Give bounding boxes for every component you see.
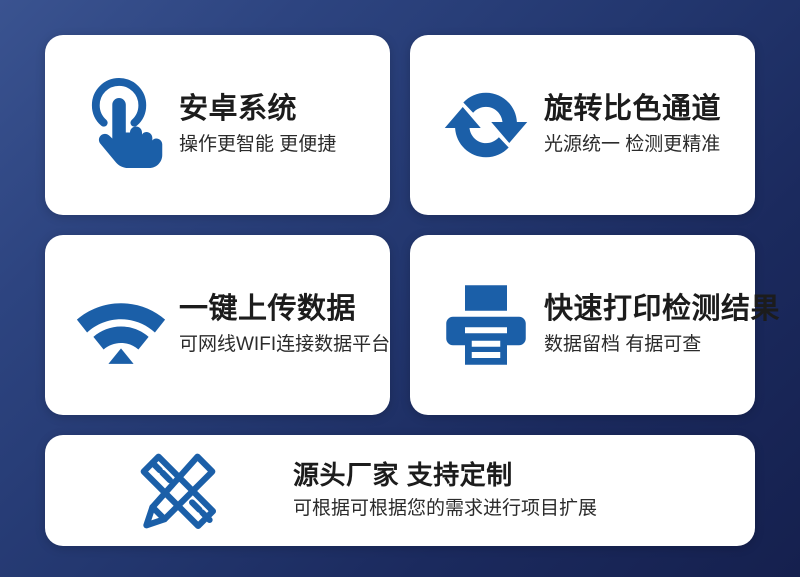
- feature-card-print[interactable]: 快速打印检测结果 数据留档 有据可查: [410, 235, 755, 415]
- feature-text: 源头厂家 支持定制 可根据可根据您的需求进行项目扩展: [293, 460, 597, 521]
- feature-card-android[interactable]: 安卓系统 操作更智能 更便捷: [45, 35, 390, 215]
- feature-card-customization[interactable]: 源头厂家 支持定制 可根据可根据您的需求进行项目扩展: [45, 435, 755, 546]
- wifi-icon: [73, 277, 169, 373]
- feature-subtitle: 光源统一 检测更精准: [544, 132, 721, 158]
- pen-ruler-icon: [135, 448, 221, 534]
- feature-card-rotating-channel[interactable]: 旋转比色通道 光源统一 检测更精准: [410, 35, 755, 215]
- printer-icon: [438, 277, 534, 373]
- feature-subtitle: 操作更智能 更便捷: [179, 132, 336, 158]
- feature-title: 源头厂家 支持定制: [293, 460, 597, 492]
- feature-text: 旋转比色通道 光源统一 检测更精准: [544, 92, 721, 158]
- feature-title: 旋转比色通道: [544, 92, 721, 127]
- feature-title: 安卓系统: [179, 92, 336, 127]
- feature-row-2: 一键上传数据 可网线WIFI连接数据平台 快速打印检测结果 数据留档 有据可查: [45, 235, 755, 415]
- rotate-refresh-icon: [438, 77, 534, 173]
- feature-subtitle: 可根据可根据您的需求进行项目扩展: [293, 496, 597, 522]
- feature-text: 安卓系统 操作更智能 更便捷: [179, 92, 336, 158]
- feature-board: 安卓系统 操作更智能 更便捷 旋转比色通道 光源统一 检测更精准: [0, 0, 800, 577]
- feature-text: 一键上传数据 可网线WIFI连接数据平台: [179, 292, 390, 358]
- feature-text: 快速打印检测结果 数据留档 有据可查: [544, 292, 780, 358]
- feature-row-3: 源头厂家 支持定制 可根据可根据您的需求进行项目扩展: [45, 435, 755, 546]
- feature-card-upload[interactable]: 一键上传数据 可网线WIFI连接数据平台: [45, 235, 390, 415]
- feature-subtitle: 数据留档 有据可查: [544, 332, 780, 358]
- feature-title: 快速打印检测结果: [544, 292, 780, 327]
- feature-subtitle: 可网线WIFI连接数据平台: [179, 332, 390, 358]
- touch-hand-icon: [73, 77, 169, 173]
- feature-row-1: 安卓系统 操作更智能 更便捷 旋转比色通道 光源统一 检测更精准: [45, 35, 755, 215]
- feature-title: 一键上传数据: [179, 292, 390, 327]
